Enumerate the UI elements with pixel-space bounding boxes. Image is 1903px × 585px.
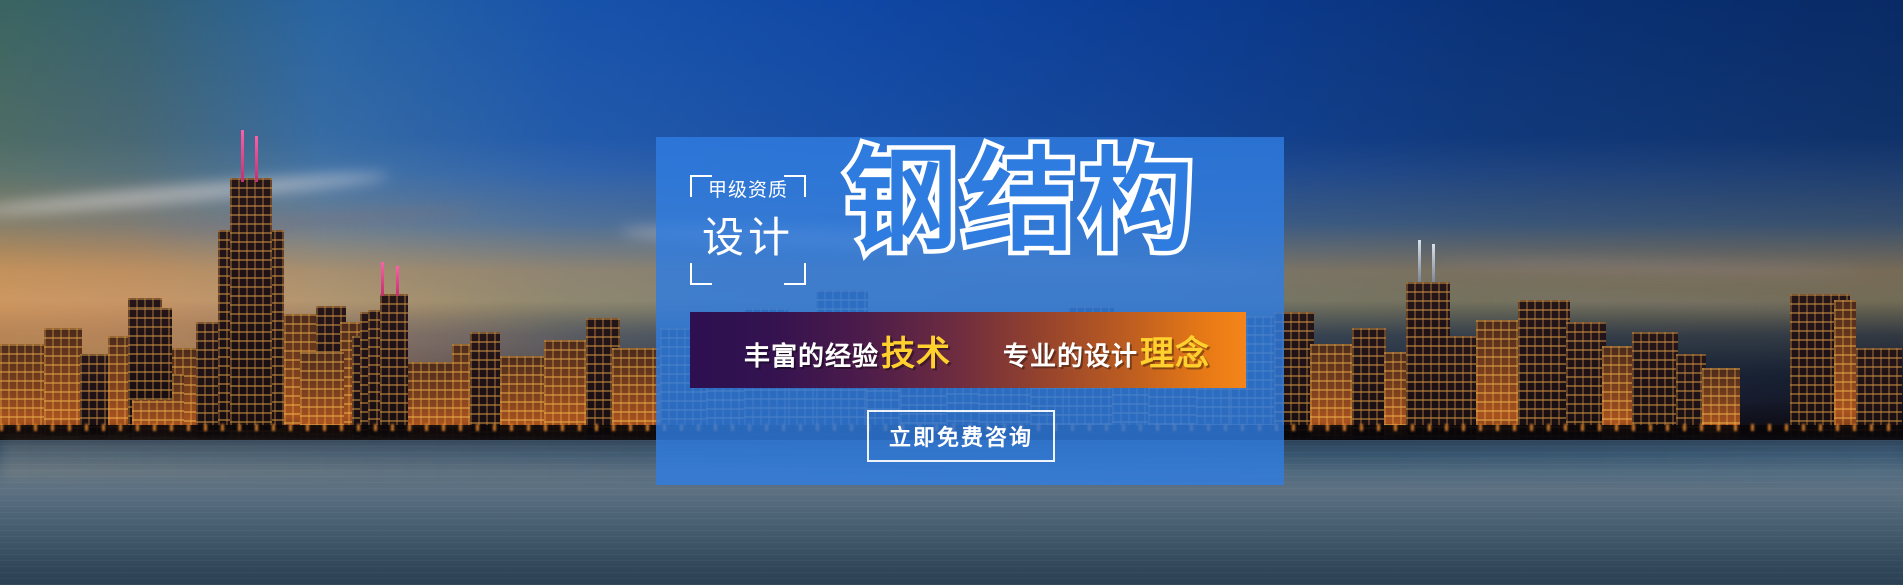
- feature-item: 专业的设计 理念: [1003, 326, 1210, 375]
- building: [1518, 300, 1570, 440]
- feature-highlight: 理念: [1140, 326, 1210, 375]
- building: [128, 308, 172, 400]
- antenna-spire: [1432, 244, 1435, 282]
- corner-bracket-bottom-left-icon: [690, 263, 712, 285]
- corner-bracket-bottom-right-icon: [784, 263, 806, 285]
- qualification-top-label: 甲级资质: [690, 181, 806, 200]
- free-consultation-button[interactable]: 立即免费咨询: [867, 410, 1055, 462]
- antenna-spire: [255, 136, 258, 182]
- qualification-badge: 甲级资质 设计: [690, 175, 806, 285]
- building: [380, 294, 408, 440]
- feature-bar: 丰富的经验 技术 专业的设计 理念: [690, 312, 1246, 388]
- feature-highlight: 技术: [881, 326, 951, 375]
- page-title: 钢结构: [845, 146, 1199, 258]
- tower-tall: [230, 178, 272, 430]
- antenna-spire: [396, 266, 399, 296]
- antenna-spire: [381, 262, 384, 296]
- building: [1476, 320, 1520, 440]
- qualification-main-label: 设计: [690, 217, 806, 259]
- hero-banner: 甲级资质 设计 钢结构 丰富的经验 技术 专业的设计 理念 立即免费咨询: [0, 0, 1903, 585]
- feature-item: 丰富的经验 技术: [744, 326, 951, 375]
- antenna-spire: [241, 130, 244, 182]
- feature-text: 丰富的经验: [744, 336, 879, 373]
- antenna-spire: [1418, 240, 1421, 282]
- building: [1834, 300, 1856, 440]
- building: [1566, 322, 1606, 440]
- feature-text: 专业的设计: [1003, 336, 1138, 373]
- tower-tall: [1406, 282, 1450, 440]
